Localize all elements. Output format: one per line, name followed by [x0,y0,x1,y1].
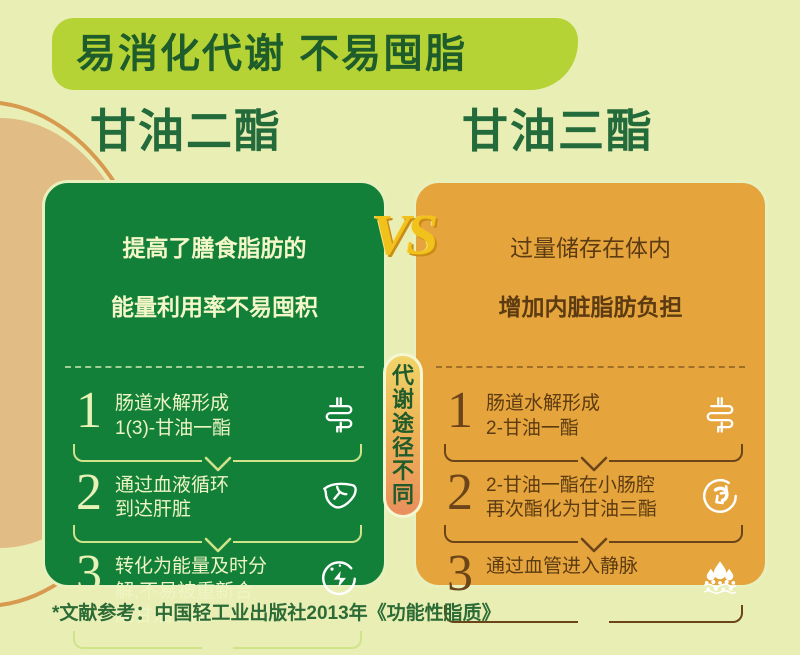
left-step-2-text: 通过血液循环 到达肝脏 [115,474,312,523]
left-panel-heading-line2: 能量利用率不易囤积 [59,293,370,322]
right-step-2-body: 2-甘油一酯在小肠腔 再次酯化为甘油三酯 [486,468,693,523]
left-step-1: 1 肠道水解形成 1(3)-甘油一酯 [63,380,366,441]
right-step-3: 3 通过血管进入静脉 [434,543,747,603]
left-step-2-number: 2 [63,468,115,517]
metabolic-pathway-pill: 代 谢 途 径 不 同 [383,353,423,518]
right-step-3-text: 通过血管进入静脉 [486,555,693,580]
left-step-2-bracket [73,525,362,543]
left-panel-heading-line1: 提高了膳食脂肪的 [59,234,370,263]
vs-badge: VS [368,196,438,272]
left-step-1-bracket [73,444,362,462]
right-panel-heading-line2: 增加内脏脂肪负担 [430,293,751,322]
right-step-1-bracket [444,444,743,462]
intestine-icon [312,388,366,440]
right-step-1-body: 肠道水解形成 2-甘油一酯 [486,386,693,441]
right-step-3-body: 通过血管进入静脉 [486,549,693,580]
right-panel-heading: 过量储存在体内 增加内脏脂肪负担 [416,183,765,352]
footnote-reference: *文献参考：中国轻工业出版社2013年《功能性脂质》 [52,598,501,625]
right-step-1: 1 肠道水解形成 2-甘油一酯 [434,380,747,441]
right-panel-triglyceride: 过量储存在体内 增加内脏脂肪负担 1 肠道水解形成 2-甘油一酯 [413,180,768,588]
vertical-label-char-6: 同 [392,483,414,507]
left-step-1-text: 肠道水解形成 1(3)-甘油一酯 [115,392,312,441]
vertical-label-char-4: 径 [392,436,414,460]
vertical-label-char-2: 谢 [392,388,414,412]
energy-bolt-icon [312,551,366,603]
right-step-2-text: 2-甘油一酯在小肠腔 再次酯化为甘油三酯 [486,474,693,523]
vertical-label-char-3: 途 [392,412,414,436]
left-panel-diglyceride: 提高了膳食脂肪的 能量利用率不易囤积 1 肠道水解形成 1(3)-甘油一酯 [42,180,387,588]
right-column-title: 甘油三酯 [462,104,654,159]
left-step-1-body: 肠道水解形成 1(3)-甘油一酯 [115,386,312,441]
right-panel-steps: 1 肠道水解形成 2-甘油一酯 [416,368,765,623]
recycle-icon [693,470,747,522]
left-column-title: 甘油二酯 [90,104,282,159]
infographic-canvas: 易消化代谢 不易囤脂 甘油二酯 甘油三酯 提高了膳食脂肪的 能量利用率不易囤积 … [0,0,800,655]
right-step-2-number: 2 [434,468,486,517]
right-step-2: 2 2-甘油一酯在小肠腔 再次酯化为甘油三酯 [434,462,747,523]
vertical-label-char-1: 代 [392,364,414,388]
intestine-icon [693,388,747,440]
left-panel-heading: 提高了膳食脂肪的 能量利用率不易囤积 [45,183,384,352]
right-step-3-number: 3 [434,549,486,598]
vertical-label-char-5: 不 [392,459,414,483]
left-step-3-number: 3 [63,549,115,598]
liver-icon [312,470,366,522]
right-step-1-number: 1 [434,386,486,435]
right-step-2-bracket [444,525,743,543]
right-step-1-text: 肠道水解形成 2-甘油一酯 [486,392,693,441]
left-step-2: 2 通过血液循环 到达肝脏 [63,462,366,523]
right-panel-heading-line1: 过量储存在体内 [430,234,751,263]
header-banner: 易消化代谢 不易囤脂 [52,18,578,90]
left-step-3-bracket [73,631,362,649]
left-step-2-body: 通过血液循环 到达肝脏 [115,468,312,523]
header-banner-text: 易消化代谢 不易囤脂 [76,34,467,74]
left-step-1-number: 1 [63,386,115,435]
fat-droplets-icon [693,551,747,603]
